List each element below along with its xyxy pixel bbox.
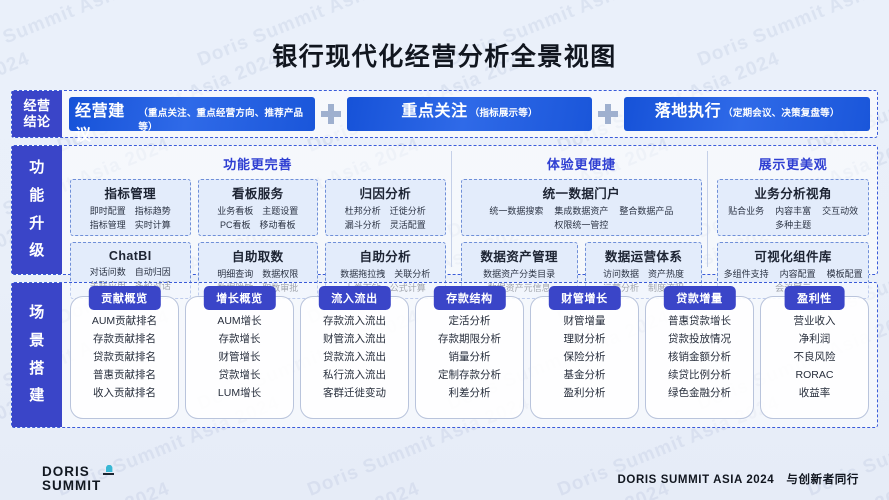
row-label-upgrade: 功能升级 bbox=[12, 146, 62, 274]
scene-card-item: 收益率 bbox=[799, 385, 831, 402]
upgrade-card-item: 权限统一管控 bbox=[554, 219, 608, 232]
upgrade-card-item: 内容丰富 bbox=[775, 205, 811, 218]
upgrade-card-item: 明细查询 bbox=[217, 268, 253, 281]
upgrade-card-items: 贴合业务内容丰富交互动效多种主题 bbox=[720, 205, 866, 232]
upgrade-card-item: 访问数据 bbox=[603, 268, 639, 281]
upgrade-card-title: 数据资产管理 bbox=[480, 246, 557, 265]
conclusion-banner[interactable]: 经营建议（重点关注、重点经营方向、推荐产品等） bbox=[69, 97, 315, 131]
footer-text: DORIS SUMMIT ASIA 2024 与创新者同行 bbox=[618, 471, 859, 487]
upgrade-card-item: 漏斗分析 bbox=[345, 219, 381, 232]
upgrade-column-heading: 体验更便捷 bbox=[461, 151, 703, 179]
row-label-scene: 场景搭建 bbox=[12, 283, 62, 427]
upgrade-card-item: 数据拖拉拽 bbox=[340, 268, 385, 281]
upgrade-card-row: 业务分析视角贴合业务内容丰富交互动效多种主题 bbox=[717, 179, 869, 236]
scene-card[interactable]: 财管增长财管增量理财分析保险分析基金分析盈利分析 bbox=[530, 296, 639, 419]
upgrade-column: 功能更完善指标管理即时配置指标趋势指标管理实时计算看板服务业务看板主题设置PC看… bbox=[70, 151, 446, 267]
footer: DORIS SUMMIT DORIS SUMMIT ASIA 2024 与创新者… bbox=[0, 458, 889, 500]
upgrade-card-item: 整合数据产品 bbox=[619, 205, 673, 218]
scene-card-pill[interactable]: 流入流出 bbox=[318, 286, 390, 310]
scene-card-item: 贷款贡献排名 bbox=[93, 349, 156, 366]
upgrade-card-title: 数据运营体系 bbox=[605, 246, 682, 265]
plus-icon bbox=[598, 104, 618, 124]
scene-card-item: 营业收入 bbox=[794, 313, 836, 330]
upgrade-card-title: 看板服务 bbox=[232, 183, 284, 202]
upgrade-card-item: 关联分析 bbox=[394, 268, 430, 281]
scene-card[interactable]: 贡献概览AUM贡献排名存款贡献排名贷款贡献排名普惠贡献排名收入贡献排名 bbox=[70, 296, 179, 419]
scene-card-item: 净利润 bbox=[799, 331, 831, 348]
upgrade-card-item: 主题设置 bbox=[262, 205, 298, 218]
scene-card-item: 客群迁徙变动 bbox=[323, 385, 386, 402]
upgrade-column-heading: 功能更完善 bbox=[70, 151, 446, 179]
scene-card[interactable]: 增长概览AUM增长存款增长财管增长贷款增长LUM增长 bbox=[185, 296, 294, 419]
banner-title: 落地执行 bbox=[655, 97, 721, 121]
upgrade-card-item: 内容配置 bbox=[780, 268, 816, 281]
scene-card-item: 存款流入流出 bbox=[323, 313, 386, 330]
rows.scene.label_chars-char: 景 bbox=[29, 332, 45, 351]
rows.scene.label_chars-char: 搭 bbox=[29, 360, 45, 379]
upgrade-card-items: 即时配置指标趋势指标管理实时计算 bbox=[73, 205, 188, 232]
upgrade-card-title: 指标管理 bbox=[104, 183, 156, 202]
scene-card-pill[interactable]: 贡献概览 bbox=[88, 286, 160, 310]
upgrade-card-item: 迁徙分析 bbox=[390, 205, 426, 218]
banner-subtitle: （定期会议、决策复盘等） bbox=[723, 105, 839, 119]
upgrade-card[interactable]: 统一数据门户统一数据搜索集成数据资产整合数据产品权限统一管控 bbox=[461, 179, 703, 236]
upgrade-card-item: 资产热度 bbox=[648, 268, 684, 281]
plus-icon bbox=[321, 104, 341, 124]
scene-card-item: LUM增长 bbox=[218, 385, 261, 402]
scene-card-item: 保险分析 bbox=[564, 349, 606, 366]
upgrade-card-row: 指标管理即时配置指标趋势指标管理实时计算看板服务业务看板主题设置PC看板移动看板… bbox=[70, 179, 446, 236]
scene-card-item: 盈利分析 bbox=[564, 385, 606, 402]
banner-title: 重点关注 bbox=[401, 97, 467, 121]
row-label-conclusion: 经营 结论 bbox=[12, 91, 62, 137]
rows.upgrade.label_chars-char: 级 bbox=[29, 242, 45, 261]
scene-card-pill[interactable]: 存款结构 bbox=[433, 286, 505, 310]
scene-card-item: 存款贡献排名 bbox=[93, 331, 156, 348]
scene-card-pill[interactable]: 贷款增量 bbox=[663, 286, 735, 310]
upgrade-card-items: 统一数据搜索集成数据资产整合数据产品权限统一管控 bbox=[464, 205, 700, 232]
upgrade-card-item: 灵活配置 bbox=[390, 219, 426, 232]
scene-card-item: 理财分析 bbox=[564, 331, 606, 348]
banner-subtitle: （指标展示等） bbox=[470, 105, 538, 119]
upgrade-card-title: 可视化组件库 bbox=[754, 246, 831, 265]
scene-card-pill[interactable]: 增长概览 bbox=[203, 286, 275, 310]
upgrade-card[interactable]: 看板服务业务看板主题设置PC看板移动看板 bbox=[198, 179, 319, 236]
banner-subtitle: （重点关注、重点经营方向、推荐产品等） bbox=[138, 105, 308, 133]
rows.upgrade.label_chars-char: 升 bbox=[29, 215, 45, 234]
upgrade-card-item: 实时计算 bbox=[135, 219, 171, 232]
conclusion-banner[interactable]: 落地执行（定期会议、决策复盘等） bbox=[624, 97, 870, 131]
upgrade-card-title: 业务分析视角 bbox=[754, 183, 831, 202]
upgrade-card-item: 多种主题 bbox=[775, 219, 811, 232]
upgrade-card-item: 移动看板 bbox=[260, 219, 296, 232]
upgrade-card-item: 集成数据资产 bbox=[554, 205, 608, 218]
scene-card-item: 续贷比例分析 bbox=[668, 367, 731, 384]
upgrade-column-heading: 展示更美观 bbox=[717, 151, 869, 179]
scene-card-item: 销量分析 bbox=[449, 349, 491, 366]
scene-card-item: 财管增量 bbox=[564, 313, 606, 330]
row-scene-building: 场景搭建 贡献概览AUM贡献排名存款贡献排名贷款贡献排名普惠贡献排名收入贡献排名… bbox=[11, 282, 878, 428]
doris-logo-mark-icon bbox=[102, 465, 115, 475]
scene-card-item: 定活分析 bbox=[449, 313, 491, 330]
row-function-upgrade: 功能升级 功能更完善指标管理即时配置指标趋势指标管理实时计算看板服务业务看板主题… bbox=[11, 145, 878, 275]
upgrade-card-item: 数据权限 bbox=[262, 268, 298, 281]
scene-card-item: 存款增长 bbox=[219, 331, 261, 348]
scene-card-item: 贷款流入流出 bbox=[323, 349, 386, 366]
row-label-conclusion-line2: 结论 bbox=[23, 114, 50, 130]
row-label-conclusion-line1: 经营 bbox=[23, 98, 50, 114]
row-conclusion: 经营 结论 经营建议（重点关注、重点经营方向、推荐产品等）重点关注（指标展示等）… bbox=[11, 90, 878, 138]
scene-card-item: 核销金额分析 bbox=[668, 349, 731, 366]
scene-card-item: 贷款增长 bbox=[219, 367, 261, 384]
doris-summit-logo: DORIS SUMMIT bbox=[42, 465, 101, 493]
rows.upgrade.label_chars-char: 能 bbox=[29, 187, 45, 206]
upgrade-card-title: ChatBI bbox=[109, 249, 152, 263]
logo-line2: SUMMIT bbox=[42, 479, 101, 493]
upgrade-card[interactable]: 归因分析杜邦分析迁徙分析漏斗分析灵活配置 bbox=[325, 179, 446, 236]
scene-card-item: 基金分析 bbox=[564, 367, 606, 384]
scene-card-item: 私行流入流出 bbox=[323, 367, 386, 384]
upgrade-card-title: 统一数据门户 bbox=[543, 183, 620, 202]
upgrade-card-item: 数据资产分类目录 bbox=[483, 268, 555, 281]
scene-card-item: 利差分析 bbox=[449, 385, 491, 402]
upgrade-card-title: 自助取数 bbox=[232, 246, 284, 265]
upgrade-card-item: 业务看板 bbox=[217, 205, 253, 218]
upgrade-card-item: 指标管理 bbox=[90, 219, 126, 232]
slide-root: Doris Summit Asia 2024Doris Summit Asia … bbox=[0, 0, 889, 500]
banner-title: 经营建议 bbox=[75, 97, 136, 145]
upgrade-column: 展示更美观业务分析视角贴合业务内容丰富交互动效多种主题可视化组件库多组件支持内容… bbox=[707, 151, 869, 267]
upgrade-card-items: 杜邦分析迁徙分析漏斗分析灵活配置 bbox=[328, 205, 443, 232]
upgrade-card-items: 业务看板主题设置PC看板移动看板 bbox=[201, 205, 316, 232]
upgrade-card[interactable]: 指标管理即时配置指标趋势指标管理实时计算 bbox=[70, 179, 191, 236]
scene-card-item: 普惠贡献排名 bbox=[93, 367, 156, 384]
upgrade-card-item: 杜邦分析 bbox=[345, 205, 381, 218]
rows.upgrade.label_chars-char: 功 bbox=[29, 159, 45, 178]
upgrade-card-item: 自动归因 bbox=[135, 266, 171, 279]
board: 经营 结论 经营建议（重点关注、重点经营方向、推荐产品等）重点关注（指标展示等）… bbox=[11, 90, 878, 428]
rows.scene.label_chars-char: 场 bbox=[29, 304, 45, 323]
scene-card-item: 普惠贷款增长 bbox=[668, 313, 731, 330]
upgrade-card-item: 多组件支持 bbox=[724, 268, 769, 281]
conclusion-banner[interactable]: 重点关注（指标展示等） bbox=[347, 97, 593, 131]
scene-cards: 贡献概览AUM贡献排名存款贡献排名贷款贡献排名普惠贡献排名收入贡献排名增长概览A… bbox=[62, 283, 877, 427]
page-title: 银行现代化经营分析全景视图 bbox=[0, 0, 889, 73]
upgrade-card-item: 贴合业务 bbox=[728, 205, 764, 218]
scene-card-item: RORAC bbox=[796, 367, 834, 384]
scene-card-item: AUM贡献排名 bbox=[92, 313, 157, 330]
scene-card-item: 绿色金融分析 bbox=[668, 385, 731, 402]
scene-card[interactable]: 盈利性营业收入净利润不良风险RORAC收益率 bbox=[760, 296, 869, 419]
upgrade-card-item: PC看板 bbox=[220, 219, 251, 232]
scene-card-item: 存款期限分析 bbox=[438, 331, 501, 348]
upgrade-card-item: 指标趋势 bbox=[135, 205, 171, 218]
upgrade-card-item: 对话问数 bbox=[90, 266, 126, 279]
upgrade-card[interactable]: 业务分析视角贴合业务内容丰富交互动效多种主题 bbox=[717, 179, 869, 236]
upgrade-card-row: 统一数据门户统一数据搜索集成数据资产整合数据产品权限统一管控 bbox=[461, 179, 703, 236]
upgrade-card-item: 即时配置 bbox=[90, 205, 126, 218]
scene-card[interactable]: 贷款增量普惠贷款增长贷款投放情况核销金额分析续贷比例分析绿色金融分析 bbox=[645, 296, 754, 419]
scene-card-item: 贷款投放情况 bbox=[668, 331, 731, 348]
upgrade-card-title: 自助分析 bbox=[359, 246, 411, 265]
scene-card-item: AUM增长 bbox=[217, 313, 261, 330]
scene-card-pill[interactable]: 盈利性 bbox=[784, 286, 845, 310]
scene-card[interactable]: 存款结构定活分析存款期限分析销量分析定制存款分析利差分析 bbox=[415, 296, 524, 419]
scene-card-item: 定制存款分析 bbox=[438, 367, 501, 384]
upgrade-card-item: 交互动效 bbox=[822, 205, 858, 218]
upgrade-column: 体验更便捷统一数据门户统一数据搜索集成数据资产整合数据产品权限统一管控数据资产管… bbox=[451, 151, 703, 267]
scene-card-item: 收入贡献排名 bbox=[93, 385, 156, 402]
logo-line1: DORIS bbox=[42, 465, 101, 479]
upgrade-card-item: 统一数据搜索 bbox=[489, 205, 543, 218]
scene-card[interactable]: 流入流出存款流入流出财管流入流出贷款流入流出私行流入流出客群迁徙变动 bbox=[300, 296, 409, 419]
conclusion-banners: 经营建议（重点关注、重点经营方向、推荐产品等）重点关注（指标展示等）落地执行（定… bbox=[62, 91, 877, 137]
scene-card-pill[interactable]: 财管增长 bbox=[548, 286, 620, 310]
rows.scene.label_chars-char: 建 bbox=[29, 387, 45, 406]
upgrade-columns: 功能更完善指标管理即时配置指标趋势指标管理实时计算看板服务业务看板主题设置PC看… bbox=[62, 146, 877, 274]
upgrade-card-title: 归因分析 bbox=[359, 183, 411, 202]
upgrade-card-item: 模板配置 bbox=[827, 268, 863, 281]
scene-card-item: 不良风险 bbox=[794, 349, 836, 366]
scene-card-item: 财管流入流出 bbox=[323, 331, 386, 348]
scene-card-item: 财管增长 bbox=[219, 349, 261, 366]
